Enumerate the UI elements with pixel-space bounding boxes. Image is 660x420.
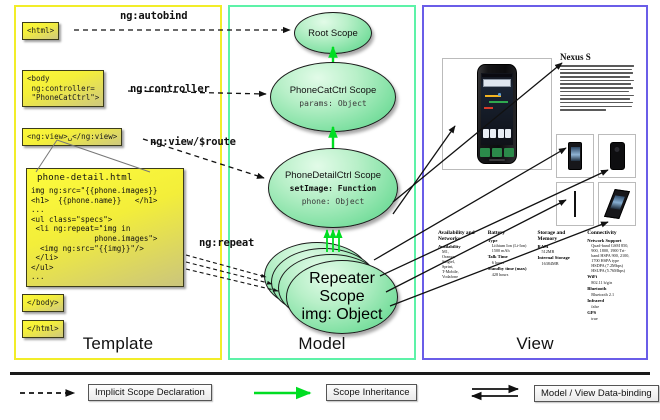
specs-value: 428 hours: [488, 272, 535, 277]
legend-dashed-arrow-icon: [18, 386, 80, 400]
specs-value: HSUPA (5.76Mbps): [587, 268, 634, 273]
note-title: phone-detail.html: [37, 173, 179, 183]
label-ng-controller: ng:controller: [130, 83, 210, 95]
specs-table: Availability and Networks Availability M…: [438, 230, 634, 321]
phone-decor-line-2: [489, 101, 508, 103]
specs-value: 1500 mAh: [488, 248, 535, 253]
article-title: Nexus S: [560, 52, 591, 62]
view-rendered-page: Nexus S Availability and Networks Availa…: [432, 48, 638, 312]
scope-phonecatctrl-name: PhoneCatCtrl Scope: [290, 85, 377, 96]
specs-value: Bluetooth 2.1: [587, 292, 634, 297]
specs-column-connectivity: Connectivity Network Support Quad-band G…: [587, 230, 634, 321]
scope-repeater-name: Repeater Scope: [287, 270, 397, 306]
phone-hero-image: [442, 58, 552, 170]
specs-value: 512MB: [538, 249, 585, 254]
note-code: img ng:src="{{phone.images}} <h1> {{phon…: [31, 186, 179, 282]
legend-divider: [10, 372, 650, 375]
specs-column-storage: Storage and Memory RAM 512MB Internal St…: [538, 230, 585, 321]
thumbnail-back[interactable]: [598, 134, 636, 178]
article-body-text: [560, 65, 634, 113]
specs-value: false: [587, 304, 634, 309]
specs-value: 802.11 b/g/n: [587, 280, 634, 285]
scope-phonedetailctrl: PhoneDetailCtrl Scope setImage: Function…: [268, 148, 398, 228]
scope-repeater-attr-img: img: Object: [302, 306, 383, 324]
legend-item-data-binding: Model / View Data-binding: [470, 384, 659, 402]
specs-header-availability: Availability and Networks: [438, 230, 485, 242]
legend-label-implicit-scope: Implicit Scope Declaration: [88, 384, 212, 401]
scope-repeater-stack: Repeater Scope img: Object: [264, 242, 396, 342]
phone-dock-icons: [480, 148, 514, 157]
code-box-html-close: </html>: [22, 320, 64, 338]
scope-phonecatctrl: PhoneCatCtrl Scope params: Object: [270, 62, 396, 132]
legend-green-arrow-icon: [252, 386, 318, 400]
phone-screen: [481, 73, 513, 145]
phone-home-bar: [489, 159, 505, 161]
scope-phonedetailctrl-name: PhoneDetailCtrl Scope: [285, 170, 381, 181]
specs-column-battery: Battery Type Lithium Ion (Li-Ion) 1500 m…: [488, 230, 535, 321]
scope-phonedetailctrl-attr-setimage: setImage: Function: [290, 184, 377, 194]
specs-header-battery: Battery: [488, 230, 535, 236]
code-box-body-close: </body>: [22, 294, 64, 312]
specs-columns: Availability and Networks Availability M…: [438, 230, 634, 321]
specs-value: 6 hours: [488, 260, 535, 265]
phone-decor-line-3: [484, 107, 493, 109]
thumbnail-angled[interactable]: [598, 182, 636, 226]
thumbnail-front[interactable]: [556, 134, 594, 178]
note-phone-detail-html: phone-detail.html img ng:src="{{phone.im…: [26, 168, 184, 287]
legend-label-scope-inheritance: Scope Inheritance: [326, 384, 417, 401]
phone-device-illustration: [477, 64, 517, 164]
specs-value: Vodafone: [438, 274, 485, 279]
diagram-root: Template <html> <body ng:controller= "Ph…: [0, 0, 660, 420]
scope-root-name: Root Scope: [308, 28, 358, 39]
specs-value: 16384MB: [538, 261, 585, 266]
phone-search-widget: [483, 79, 511, 87]
code-box-ngview: <ng:view>␣</ng:view>: [22, 128, 122, 146]
specs-value: true: [587, 316, 634, 321]
label-ng-repeat: ng:repeat: [199, 237, 254, 249]
specs-header-storage: Storage and Memory: [538, 230, 585, 242]
scope-root: Root Scope: [294, 12, 372, 54]
label-ng-autobind: ng:autobind: [120, 10, 187, 22]
code-box-body-open: <body ng:controller= "PhoneCatCtrl">: [22, 70, 104, 107]
phone-app-icons: [483, 129, 511, 138]
scope-phonedetailctrl-attr-phone: phone: Object: [302, 197, 365, 207]
label-ng-view-route: ng:view/$route: [150, 136, 236, 148]
scope-phonecatctrl-attr-params: params: Object: [299, 99, 366, 109]
legend-label-data-binding: Model / View Data-binding: [534, 385, 659, 402]
specs-header-connectivity: Connectivity: [587, 230, 634, 236]
panel-view-label: View: [424, 334, 646, 354]
phone-statusbar: [482, 74, 512, 77]
code-box-html-open: <html>: [22, 22, 59, 40]
phone-decor-dot: [498, 93, 501, 96]
legend-item-scope-inheritance: Scope Inheritance: [252, 384, 417, 401]
thumbnail-side[interactable]: [556, 182, 594, 226]
legend-double-arrow-icon: [470, 384, 526, 402]
scope-repeater: Repeater Scope img: Object: [286, 260, 398, 334]
legend-item-implicit-scope: Implicit Scope Declaration: [18, 384, 212, 401]
specs-column-availability: Availability and Networks Availability M…: [438, 230, 485, 321]
